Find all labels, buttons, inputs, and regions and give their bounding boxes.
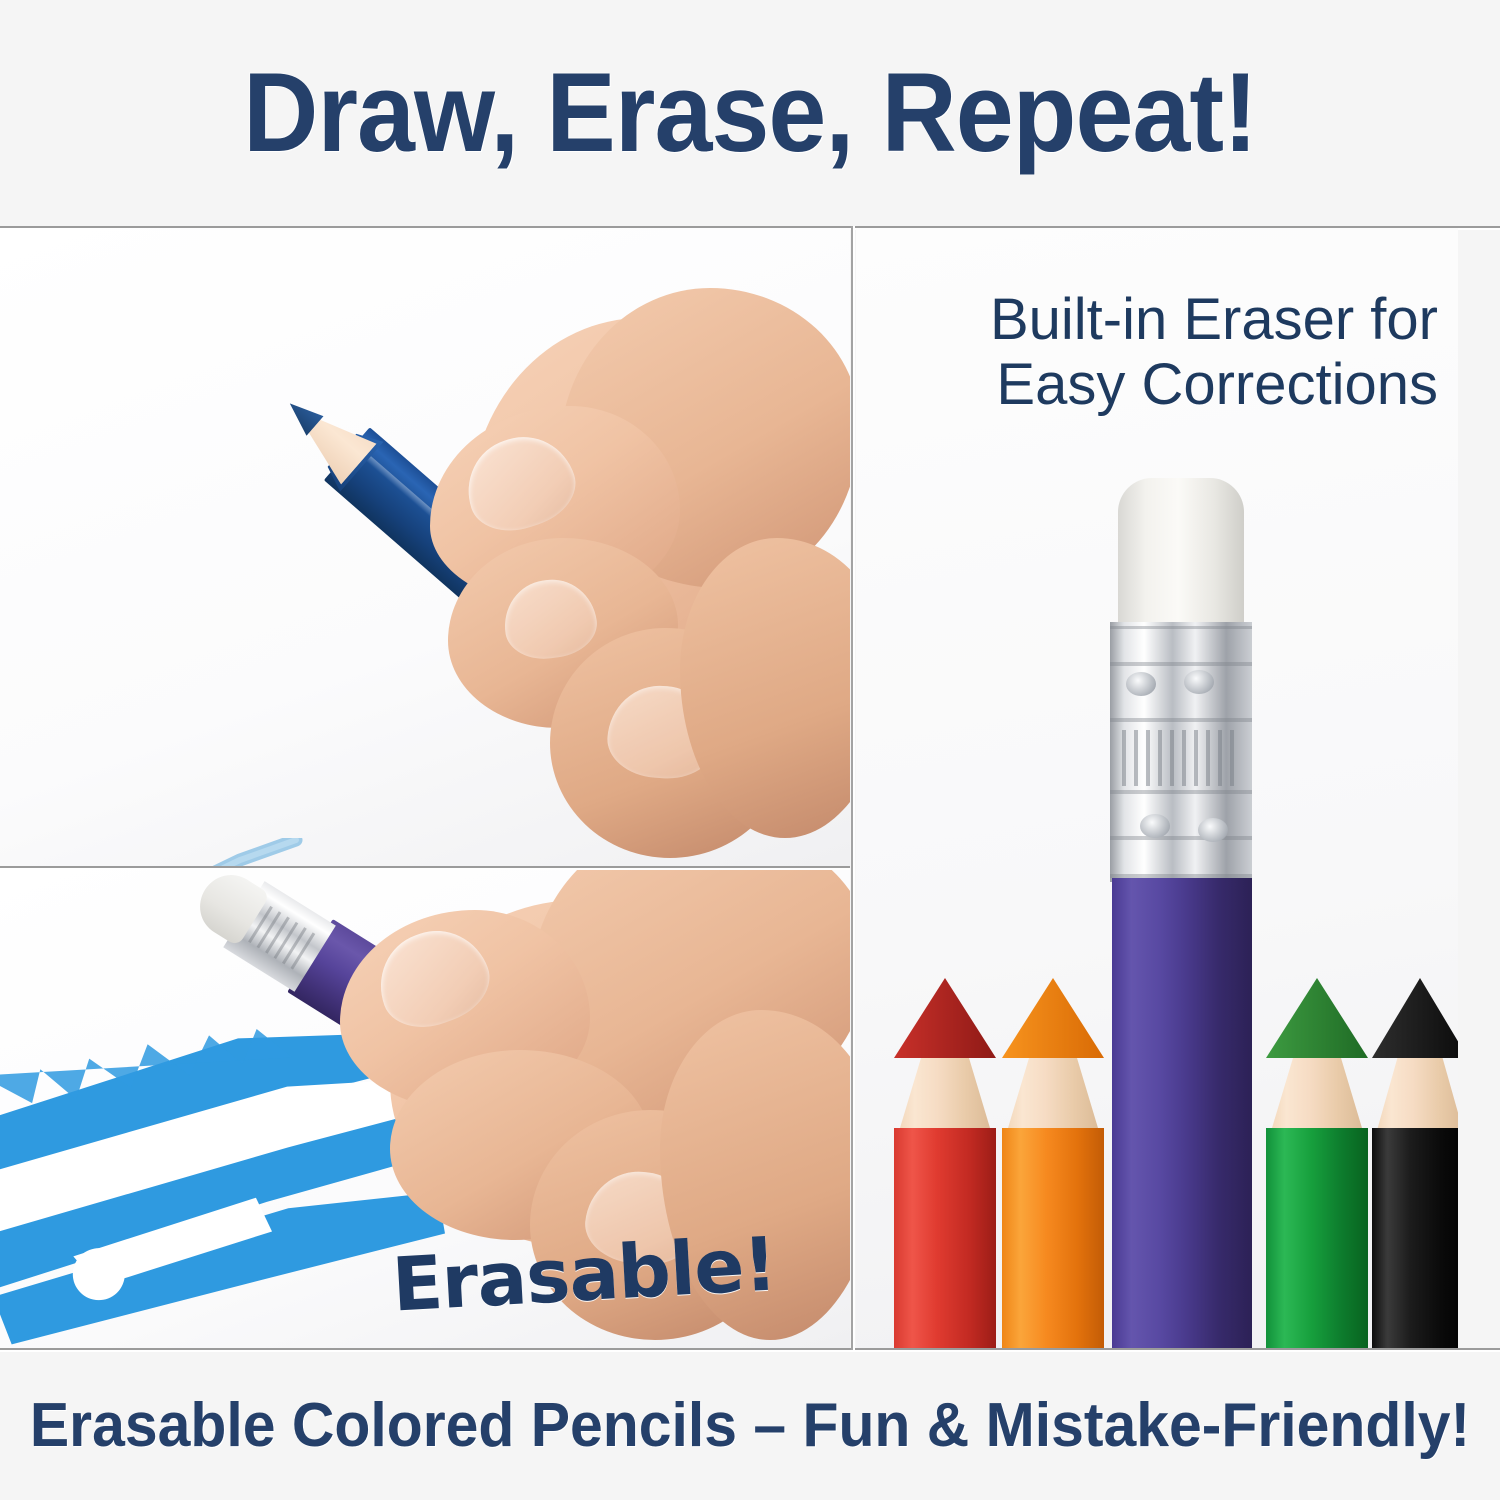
red-pencil-tip bbox=[894, 978, 996, 1058]
drawn-blue-line bbox=[0, 838, 310, 866]
red-pencil-barrel bbox=[894, 1128, 996, 1348]
header-band: Draw, Erase, Repeat! bbox=[0, 0, 1500, 226]
footer-band: Erasable Colored Pencils – Fun & Mistake… bbox=[0, 1350, 1500, 1500]
metal-ferrule bbox=[1110, 622, 1252, 882]
divider-vertical bbox=[851, 226, 853, 1350]
panel-drawing-demo bbox=[0, 228, 850, 866]
divider-left-middle bbox=[0, 866, 850, 868]
infographic-canvas: Draw, Erase, Repeat! bbox=[0, 0, 1500, 1500]
hand-holding-pencil bbox=[430, 288, 850, 866]
green-pencil-tip bbox=[1266, 978, 1368, 1058]
page-title: Draw, Erase, Repeat! bbox=[243, 57, 1257, 169]
orange-pencil-barrel bbox=[1002, 1128, 1104, 1348]
featured-purple-pencil bbox=[1100, 478, 1260, 1348]
feature-heading-line2: Easy Corrections bbox=[878, 353, 1438, 418]
eraser-cap bbox=[1118, 478, 1244, 626]
red-pencil bbox=[894, 978, 996, 1348]
footer-caption: Erasable Colored Pencils – Fun & Mistake… bbox=[30, 1390, 1470, 1461]
orange-pencil bbox=[1002, 978, 1104, 1348]
purple-barrel bbox=[1112, 878, 1252, 1348]
green-pencil-barrel bbox=[1266, 1128, 1368, 1348]
black-pencil-tip bbox=[1372, 978, 1458, 1058]
feature-heading-line1: Built-in Eraser for bbox=[878, 288, 1438, 353]
green-pencil bbox=[1266, 978, 1368, 1348]
orange-pencil-tip bbox=[1002, 978, 1104, 1058]
panel-built-in-eraser: Built-in Eraser for Easy Corrections bbox=[856, 228, 1458, 1348]
black-pencil-barrel bbox=[1372, 1128, 1458, 1348]
feature-heading: Built-in Eraser for Easy Corrections bbox=[878, 288, 1438, 418]
black-pencil bbox=[1372, 978, 1458, 1348]
